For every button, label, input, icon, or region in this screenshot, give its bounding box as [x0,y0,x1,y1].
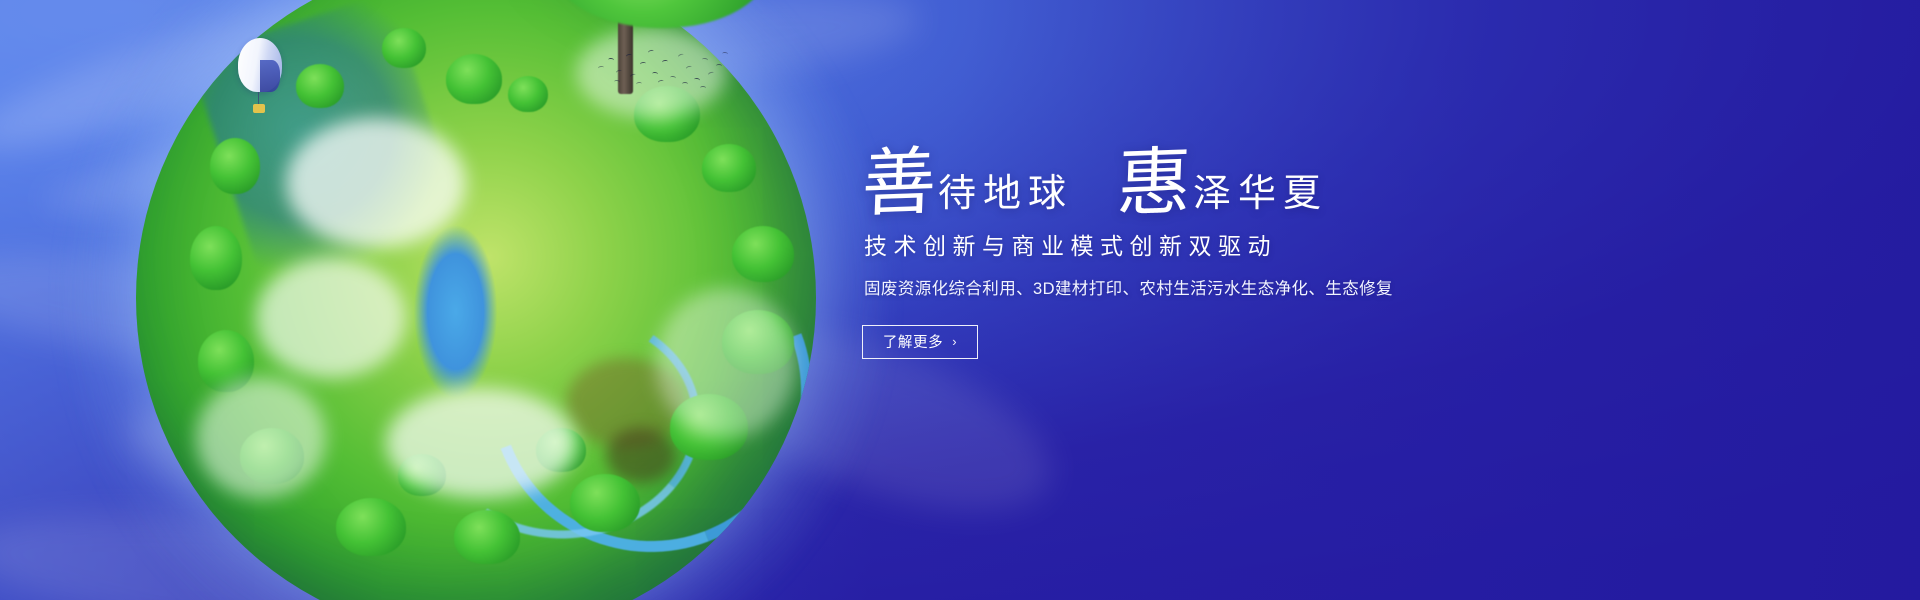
bird-icon [658,79,665,84]
bird-icon [640,62,647,67]
planet-cloud [286,118,466,248]
hot-air-balloon-icon [238,38,282,116]
tree-icon [446,54,502,104]
planet-cloud [196,378,326,498]
balloon-basket [253,104,265,113]
planet-cloud [386,388,576,498]
bird-icon [629,73,636,79]
tree-icon [210,138,260,194]
hero-description: 固废资源化综合利用、3D建材打印、农村生活污水生态净化、生态修复 [864,278,1562,301]
tree-icon [382,28,426,68]
bird-icon [662,60,668,65]
balloon-stripe [260,60,280,92]
bird-icon [598,66,604,71]
tree-icon [570,474,640,532]
bird-icon [608,58,614,62]
bird-icon [682,82,688,86]
hero-banner: 善 待地球 惠 泽华夏 技术创新与商业模式创新双驱动 固废资源化综合利用、3D建… [0,0,1920,600]
tree-icon [336,498,406,556]
bird-icon [616,69,623,75]
page-title: 善 待地球 惠 泽华夏 [862,128,1562,218]
tree-icon [702,144,756,192]
bird-icon [636,82,642,87]
bird-icon [677,53,684,59]
bird-flock-icon [596,48,726,90]
bird-icon [700,86,706,90]
planet-cloud [256,258,406,378]
chevron-right-icon: › [952,335,957,348]
bird-icon [670,76,676,81]
bird-icon [722,52,728,56]
hero-subtitle: 技术创新与商业模式创新双驱动 [864,232,1562,262]
hero-content: 善 待地球 惠 泽华夏 技术创新与商业模式创新双驱动 固废资源化综合利用、3D建… [862,128,1562,359]
headline-rest-1: 待地球 [938,174,1073,218]
bird-icon [652,72,658,76]
bird-icon [614,80,620,85]
headline-brush-char-2: 惠 [1116,146,1193,219]
learn-more-label: 了解更多 [883,331,943,352]
learn-more-button[interactable]: 了解更多 › [862,325,978,359]
bird-icon [707,71,714,77]
headline-rest-2: 泽华夏 [1193,174,1328,218]
bird-icon [686,65,693,71]
tree-icon [454,510,520,564]
bird-icon [716,64,722,68]
bird-icon [626,53,633,58]
bird-icon [648,49,655,54]
bird-icon [694,78,701,83]
planet-cloud [656,288,796,438]
tree-icon [296,64,344,108]
headline-brush-char-1: 善 [861,146,938,219]
tree-icon [732,226,794,282]
tree-icon [190,226,242,290]
bird-icon [702,58,708,63]
tree-crown [550,0,770,28]
